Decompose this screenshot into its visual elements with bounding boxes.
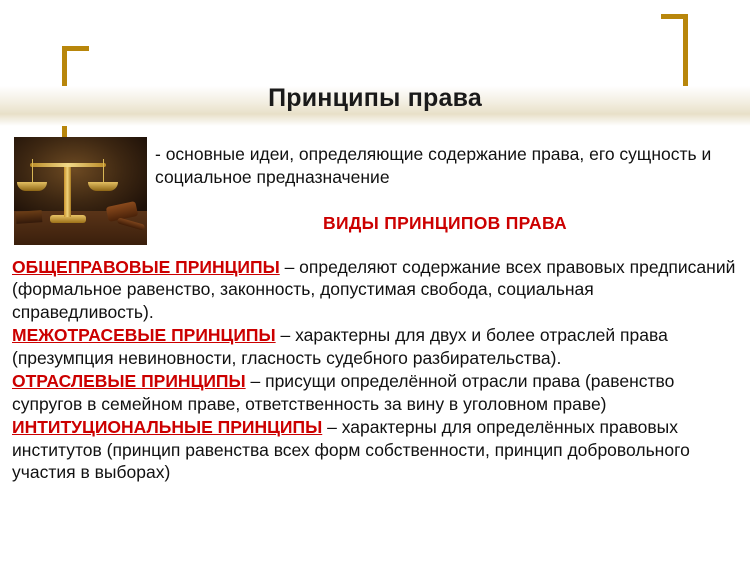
photo-book [16,210,43,224]
principle-keyword-interbranch: МЕЖОТРАСЕВЫЕ ПРИНЦИПЫ [12,325,276,345]
photo-scales-beam [30,163,106,167]
photo-scales-pan-right [88,182,118,191]
photo-scales-stand [64,165,71,217]
principles-list: ОБЩЕПРАВОВЫЕ ПРИНЦИПЫ – определяют содер… [12,256,740,484]
page-title: Принципы права [0,84,750,113]
principle-keyword-general: ОБЩЕПРАВОВЫЕ ПРИНЦИПЫ [12,257,280,277]
principle-item-interbranch: МЕЖОТРАСЕВЫЕ ПРИНЦИПЫ – характерны для д… [12,324,740,369]
section-subheading: ВИДЫ ПРИНЦИПОВ ПРАВА [150,213,740,234]
photo-scales-pan-left [17,182,47,191]
photo-scales-wire-left [32,159,33,183]
principle-keyword-institutional: ИНТИТУЦИОНАЛЬНЫЕ ПРИНЦИПЫ [12,417,322,437]
definition-text: - основные идеи, определяющие содержание… [155,143,735,189]
photo-scales-wire-right [103,159,104,183]
principle-item-general: ОБЩЕПРАВОВЫЕ ПРИНЦИПЫ – определяют содер… [12,256,740,323]
principle-item-institutional: ИНТИТУЦИОНАЛЬНЫЕ ПРИНЦИПЫ – характерны д… [12,416,740,483]
scales-of-justice-image [14,137,147,245]
principle-item-branch: ОТРАСЛЕВЫЕ ПРИНЦИПЫ – присущи определённ… [12,370,740,415]
principle-keyword-branch: ОТРАСЛЕВЫЕ ПРИНЦИПЫ [12,371,246,391]
